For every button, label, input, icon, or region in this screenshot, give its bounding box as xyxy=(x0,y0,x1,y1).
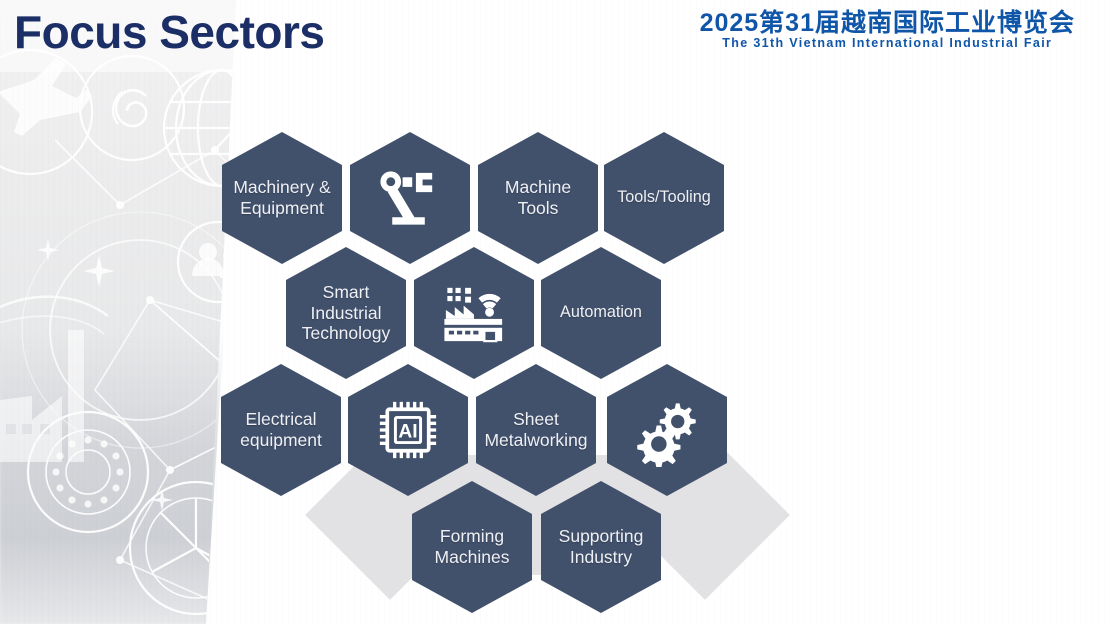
hex-automation[interactable]: Automation xyxy=(541,247,661,379)
smart-factory-icon xyxy=(437,276,511,350)
ai-chip-icon: AI xyxy=(371,393,445,467)
hex-label: Smart Industrial Technology xyxy=(298,282,395,344)
hex-label: Sheet Metalworking xyxy=(480,409,591,450)
hex-electrical-equipment[interactable]: Electrical equipment xyxy=(221,364,341,496)
hex-label: Forming Machines xyxy=(431,526,514,567)
hex-robot-arm[interactable] xyxy=(350,132,470,264)
hex-label: Machine Tools xyxy=(501,177,575,218)
hex-smart-factory[interactable] xyxy=(414,247,534,379)
hex-label: Automation xyxy=(556,303,646,322)
focus-sectors-honeycomb: Machinery & Equipment Machine ToolsTools… xyxy=(0,0,1109,624)
hex-label: Machinery & Equipment xyxy=(229,177,334,218)
hex-label: Supporting Industry xyxy=(555,526,648,567)
slide-canvas: Focus Sectors 2025第31届越南国际工业博览会 The 31th… xyxy=(0,0,1109,624)
hex-tools-tooling[interactable]: Tools/Tooling xyxy=(604,132,724,264)
hex-smart-industrial-technology[interactable]: Smart Industrial Technology xyxy=(286,247,406,379)
hex-machine-tools[interactable]: Machine Tools xyxy=(478,132,598,264)
hex-label: Tools/Tooling xyxy=(613,188,715,207)
robot-arm-icon xyxy=(373,161,447,235)
svg-text:AI: AI xyxy=(398,421,417,442)
hex-machinery-equipment[interactable]: Machinery & Equipment xyxy=(222,132,342,264)
gears-icon xyxy=(630,393,704,467)
hex-label: Electrical equipment xyxy=(236,409,326,450)
